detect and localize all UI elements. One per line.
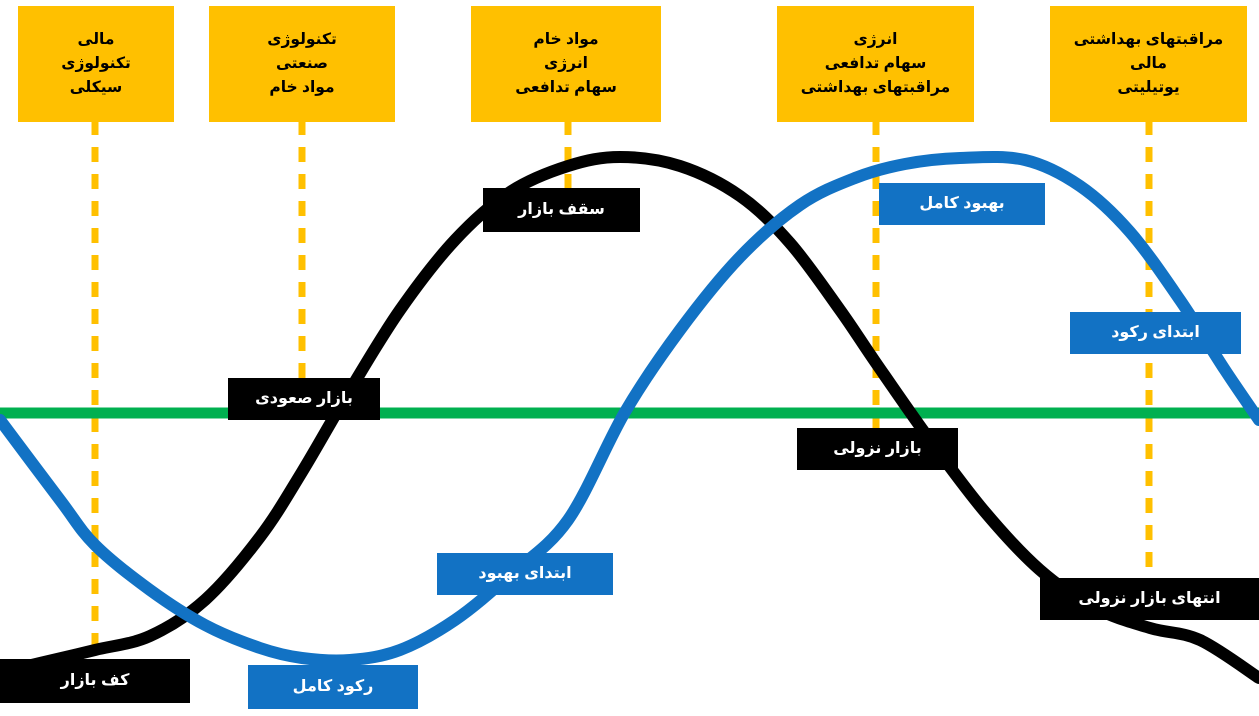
- tag-bear-market-end[interactable]: انتهای بازار نزولی: [1040, 578, 1259, 620]
- sector-box-4-line-2: سهام تدافعی: [825, 52, 927, 76]
- sector-box-4-line-3: مراقبتهای بهداشتی: [801, 76, 951, 100]
- sector-box-tech-industrial-materials[interactable]: تکنولوژی صنعتی مواد خام: [209, 6, 395, 122]
- sector-box-2-line-2: صنعتی: [276, 52, 328, 76]
- sector-box-3-line-2: انرژی: [544, 52, 588, 76]
- tag-full-recovery[interactable]: بهبود کامل: [879, 183, 1045, 225]
- sector-box-materials-energy-defensive[interactable]: مواد خام انرژی سهام تدافعی: [471, 6, 661, 122]
- sector-box-healthcare-financial-utility[interactable]: مراقبتهای بهداشتی مالی یوتیلیتی: [1050, 6, 1247, 122]
- sector-box-1-line-1: مالی: [78, 28, 115, 52]
- sector-box-2-line-3: مواد خام: [269, 76, 334, 100]
- cycle-diagram: مالی تکنولوژی سیکلی تکنولوژی صنعتی مواد …: [0, 0, 1259, 716]
- sector-box-5-line-1: مراقبتهای بهداشتی: [1074, 28, 1224, 52]
- tag-market-top[interactable]: سقف بازار: [483, 188, 640, 232]
- sector-box-3-line-3: سهام تدافعی: [515, 76, 617, 100]
- tag-full-recession[interactable]: رکود کامل: [248, 665, 418, 709]
- tag-recession-start[interactable]: ابتدای رکود: [1070, 312, 1241, 354]
- tag-bear-market[interactable]: بازار نزولی: [797, 428, 958, 470]
- sector-box-5-line-3: یوتیلیتی: [1117, 76, 1179, 100]
- tag-recovery-start[interactable]: ابتدای بهبود: [437, 553, 613, 595]
- sector-box-1-line-3: سیکلی: [70, 76, 123, 100]
- sector-box-energy-defensive-healthcare[interactable]: انرژی سهام تدافعی مراقبتهای بهداشتی: [777, 6, 974, 122]
- sector-box-1-line-2: تکنولوژی: [61, 52, 131, 76]
- tag-market-bottom[interactable]: کف بازار: [0, 659, 190, 703]
- sector-box-4-line-1: انرژی: [854, 28, 898, 52]
- tag-bull-market[interactable]: بازار صعودی: [228, 378, 380, 420]
- sector-box-financial-tech-cyclical[interactable]: مالی تکنولوژی سیکلی: [18, 6, 174, 122]
- sector-box-2-line-1: تکنولوژی: [267, 28, 337, 52]
- sector-box-3-line-1: مواد خام: [533, 28, 598, 52]
- sector-box-5-line-2: مالی: [1130, 52, 1167, 76]
